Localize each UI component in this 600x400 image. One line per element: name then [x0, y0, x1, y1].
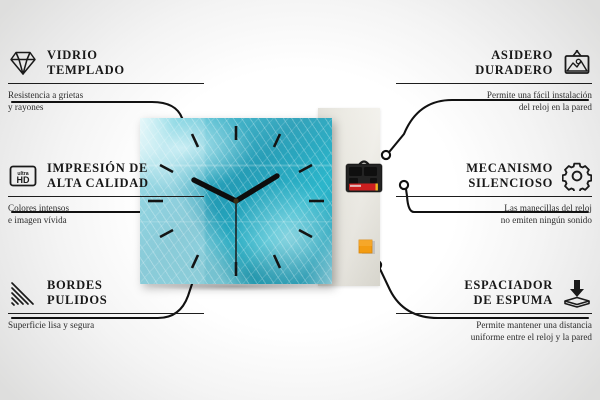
feature-mecanismo-silencioso: MECANISMO SILENCIOSO Las manecillas del … [396, 161, 592, 226]
infographic-canvas: VIDRIO TEMPLADO Resistencia a grietas y … [0, 0, 600, 400]
feature-header: VIDRIO TEMPLADO [8, 48, 204, 79]
feature-divider [8, 313, 204, 314]
svg-text:HD: HD [17, 175, 30, 185]
feature-header: MECANISMO SILENCIOSO [396, 161, 592, 192]
feature-title: ESPACIADOR DE ESPUMA [464, 278, 553, 309]
feature-header: ASIDERO DURADERO [396, 48, 592, 79]
clock-mechanism [343, 158, 385, 198]
gear-icon [562, 161, 592, 191]
feature-header: ultra HD IMPRESIÓN DE ALTA CALIDAD [8, 161, 204, 192]
feature-divider [8, 196, 204, 197]
ultra-hd-icon: ultra HD [8, 161, 38, 191]
feature-header: ESPACIADOR DE ESPUMA [396, 278, 592, 309]
polished-edge-icon [8, 278, 38, 308]
feature-title: ASIDERO DURADERO [475, 48, 553, 79]
feature-divider [396, 196, 592, 197]
feature-description: Permite una fácil instalación del reloj … [396, 89, 592, 113]
feature-title: MECANISMO SILENCIOSO [466, 161, 553, 192]
feature-title: VIDRIO TEMPLADO [47, 48, 125, 79]
foam-spacer [357, 238, 377, 258]
hands-hub [233, 198, 238, 203]
feature-asidero-duradero: ASIDERO DURADERO Permite una fácil insta… [396, 48, 592, 113]
feature-divider [396, 313, 592, 314]
feature-description: Superficie lisa y segura [8, 319, 204, 331]
feature-description: Permite mantener una distancia uniforme … [396, 319, 592, 343]
feature-header: BORDES PULIDOS [8, 278, 204, 309]
minute-hand [236, 176, 277, 201]
wall-hanger-icon [562, 48, 592, 78]
feature-espaciador-de-espuma: ESPACIADOR DE ESPUMA Permite mantener un… [396, 278, 592, 343]
diamond-icon [8, 48, 38, 78]
feature-description: Resistencia a grietas y rayones [8, 89, 204, 113]
spacer-arrow-icon [562, 278, 592, 308]
feature-impresion-alta-calidad: ultra HD IMPRESIÓN DE ALTA CALIDAD Color… [8, 161, 204, 226]
feature-bordes-pulidos: BORDES PULIDOS Superficie lisa y segura [8, 278, 204, 331]
feature-vidrio-templado: VIDRIO TEMPLADO Resistencia a grietas y … [8, 48, 204, 113]
feature-divider [396, 83, 592, 84]
feature-divider [8, 83, 204, 84]
feature-description: Las manecillas del reloj no emiten ningú… [396, 202, 592, 226]
feature-title: IMPRESIÓN DE ALTA CALIDAD [47, 161, 149, 192]
feature-title: BORDES PULIDOS [47, 278, 107, 309]
battery [349, 184, 377, 191]
feature-description: Colores intensos e imagen vívida [8, 202, 204, 226]
